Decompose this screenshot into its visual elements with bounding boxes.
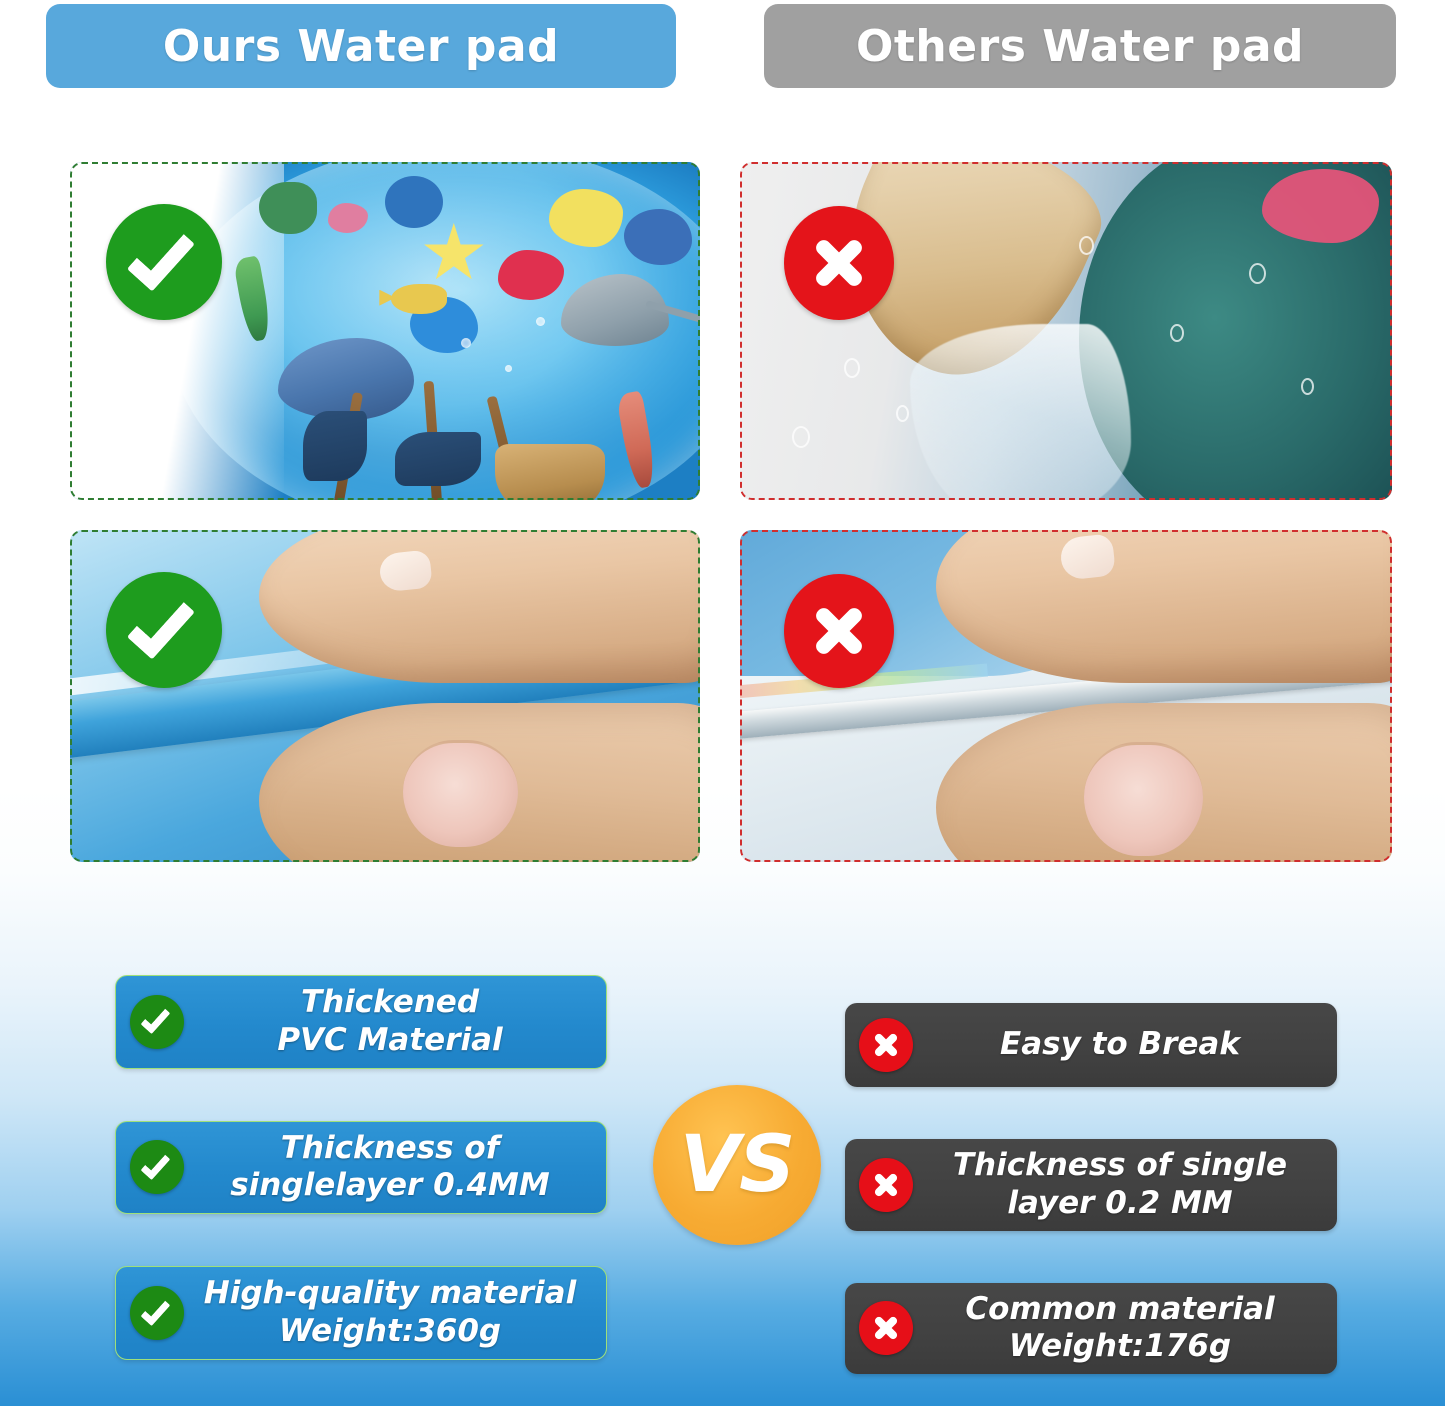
check-glyph bbox=[127, 221, 195, 291]
ours-feature-label: Thickness of singlelayer 0.4MM bbox=[194, 1130, 592, 1206]
x-icon bbox=[859, 1018, 913, 1072]
ship-hull bbox=[495, 444, 605, 500]
upper-fingernail bbox=[378, 549, 433, 592]
turtle-figure bbox=[259, 182, 317, 234]
x-icon bbox=[784, 574, 894, 688]
yellow-striped-fish-figure bbox=[391, 284, 447, 314]
ours-feature-item: Thickness of singlelayer 0.4MM bbox=[115, 1121, 607, 1215]
water-droplet-6 bbox=[1249, 263, 1266, 284]
upper-finger bbox=[259, 530, 700, 683]
banner-others-water-pad: Others Water pad bbox=[764, 4, 1396, 88]
x-glyph bbox=[873, 1315, 899, 1341]
banner-ours-label: Ours Water pad bbox=[163, 21, 559, 72]
water-droplet-4 bbox=[1079, 236, 1094, 255]
lower-thumbnail bbox=[403, 740, 518, 847]
feature-comparison: Thickened PVC Material Thickness of sing… bbox=[0, 975, 1445, 1395]
check-glyph bbox=[127, 589, 195, 659]
x-icon bbox=[859, 1158, 913, 1212]
check-glyph bbox=[140, 1004, 170, 1035]
bubble-2 bbox=[505, 365, 512, 372]
others-feature-item: Thickness of single layer 0.2 MM bbox=[845, 1139, 1337, 1231]
water-droplet-3 bbox=[792, 426, 810, 448]
shipwreck-graphic bbox=[297, 378, 625, 500]
lower-thumb bbox=[936, 703, 1392, 862]
check-icon bbox=[106, 204, 222, 320]
banner-ours-water-pad: Ours Water pad bbox=[46, 4, 676, 88]
ours-feature-list: Thickened PVC Material Thickness of sing… bbox=[115, 975, 607, 1412]
ours-feature-label: Thickened PVC Material bbox=[194, 984, 592, 1060]
blue-figure-right bbox=[624, 209, 692, 265]
x-glyph bbox=[811, 235, 867, 291]
check-icon bbox=[106, 572, 222, 688]
x-icon bbox=[859, 1301, 913, 1355]
check-icon bbox=[130, 995, 184, 1049]
whale-figure bbox=[385, 176, 443, 228]
lower-thumb bbox=[259, 703, 700, 862]
check-icon bbox=[130, 1286, 184, 1340]
water-splash bbox=[910, 324, 1132, 500]
water-droplet-7 bbox=[1301, 378, 1314, 395]
comparison-infographic: Ours Water pad Others Water pad bbox=[0, 0, 1445, 1406]
ship-sail-center bbox=[395, 432, 481, 486]
pink-figure bbox=[1262, 169, 1379, 243]
others-feature-list: Easy to Break Thickness of single layer … bbox=[845, 1003, 1337, 1426]
photo-others-paw-breaking-mat bbox=[740, 162, 1392, 500]
others-feature-item: Common material Weight:176g bbox=[845, 1283, 1337, 1375]
water-droplet-1 bbox=[844, 358, 860, 378]
ours-feature-label: High-quality material Weight:360g bbox=[194, 1275, 592, 1351]
x-glyph bbox=[811, 603, 867, 659]
x-glyph bbox=[873, 1172, 899, 1198]
check-glyph bbox=[140, 1295, 170, 1326]
ours-feature-item: Thickened PVC Material bbox=[115, 975, 607, 1069]
ship-sail-left bbox=[303, 411, 367, 481]
vs-badge: VS bbox=[653, 1085, 821, 1245]
x-icon bbox=[784, 206, 894, 320]
bubble-1 bbox=[461, 338, 471, 348]
others-feature-label: Easy to Break bbox=[923, 1026, 1323, 1064]
x-glyph bbox=[873, 1032, 899, 1058]
photo-ours-paw-on-intact-water-mat bbox=[70, 162, 700, 500]
photo-grid bbox=[0, 160, 1445, 870]
upper-finger bbox=[936, 530, 1392, 683]
others-feature-label: Thickness of single layer 0.2 MM bbox=[923, 1147, 1323, 1223]
ours-feature-item: High-quality material Weight:360g bbox=[115, 1266, 607, 1360]
banner-others-label: Others Water pad bbox=[856, 21, 1304, 72]
header-banners: Ours Water pad Others Water pad bbox=[0, 0, 1445, 95]
photo-ours-thick-material-pinch bbox=[70, 530, 700, 862]
check-icon bbox=[130, 1140, 184, 1194]
water-droplet-2 bbox=[896, 405, 909, 422]
photo-others-thin-material-pinch bbox=[740, 530, 1392, 862]
others-feature-label: Common material Weight:176g bbox=[923, 1291, 1323, 1367]
others-feature-item: Easy to Break bbox=[845, 1003, 1337, 1087]
lower-thumbnail bbox=[1084, 742, 1203, 856]
check-glyph bbox=[140, 1149, 170, 1180]
vs-label: VS bbox=[680, 1120, 795, 1210]
upper-fingernail bbox=[1059, 534, 1116, 582]
